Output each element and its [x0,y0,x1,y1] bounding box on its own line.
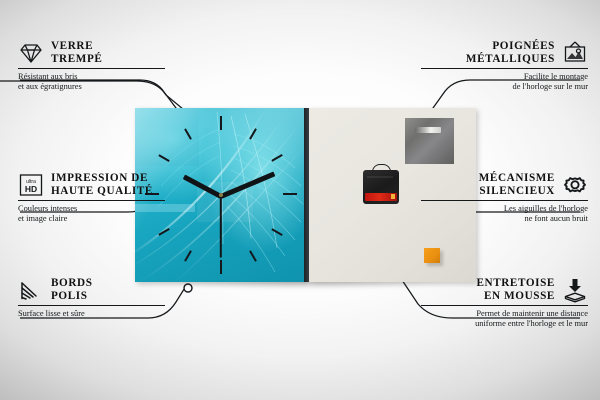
clock-mechanism [363,170,399,204]
second-hand [220,195,222,257]
feature-impression-haute-qualite: ultra HD IMPRESSION DE HAUTE QUALITÉ Cou… [18,172,170,224]
feature-verre-trempe: VERRE TREMPÉ Résistant aux bris et aux é… [18,40,170,92]
feature-poignees-metalliques: POIGNÉES MÉTALLIQUES Facilite le montage… [416,40,588,92]
foam-spacer [424,248,440,263]
hour-tick-6 [220,260,222,274]
feature-title: VERRE TREMPÉ [51,40,102,65]
mechanism-detail [367,176,393,188]
feature-rule [18,305,165,306]
feature-title: POIGNÉES MÉTALLIQUES [466,40,555,65]
feature-rule [421,305,588,306]
hour-tick-12 [220,116,222,130]
feature-description: Résistant aux bris et aux égratignures [18,72,170,92]
diamond-icon [18,40,44,66]
battery [365,193,397,201]
feature-entretoise-en-mousse: ENTRETOISE EN MOUSSE Permet de maintenir… [416,277,588,329]
feature-mecanisme-silencieux: MÉCANISME SILENCIEUX Les aiguilles de l'… [416,172,588,224]
feature-description: Permet de maintenir une distance uniform… [416,309,588,329]
feature-description: Surface lisse et sûre [18,309,170,319]
gear-icon [562,172,588,198]
feature-description: Facilite le montage de l'horloge sur le … [416,72,588,92]
feature-description: Couleurs intenses et image claire [18,204,170,224]
mechanism-hanger-loop [372,164,391,173]
feature-rule [421,68,588,69]
picture-frame-hanger-icon [562,40,588,66]
feature-rule [18,200,165,201]
clock-center-pin [219,193,223,197]
feature-title: ENTRETOISE EN MOUSSE [476,277,555,302]
hour-tick-3 [283,193,297,195]
foam-spacer-arrow-icon [562,277,588,303]
feature-bords-polis: BORDS POLIS Surface lisse et sûre [18,277,170,319]
metal-hanger-plate [405,118,454,164]
feature-rule [18,68,165,69]
polished-edges-icon [18,277,44,303]
feature-title: IMPRESSION DE HAUTE QUALITÉ [51,172,153,197]
feature-rule [421,200,588,201]
infographic-canvas: VERRE TREMPÉ Résistant aux bris et aux é… [0,0,600,400]
ultra-hd-icon: ultra HD [18,172,44,198]
feature-title: MÉCANISME SILENCIEUX [479,172,555,197]
svg-text:HD: HD [25,184,37,194]
feature-description: Les aiguilles de l'horloge ne font aucun… [416,204,588,224]
feature-title: BORDS POLIS [51,277,93,302]
hanger-slot [415,127,441,133]
